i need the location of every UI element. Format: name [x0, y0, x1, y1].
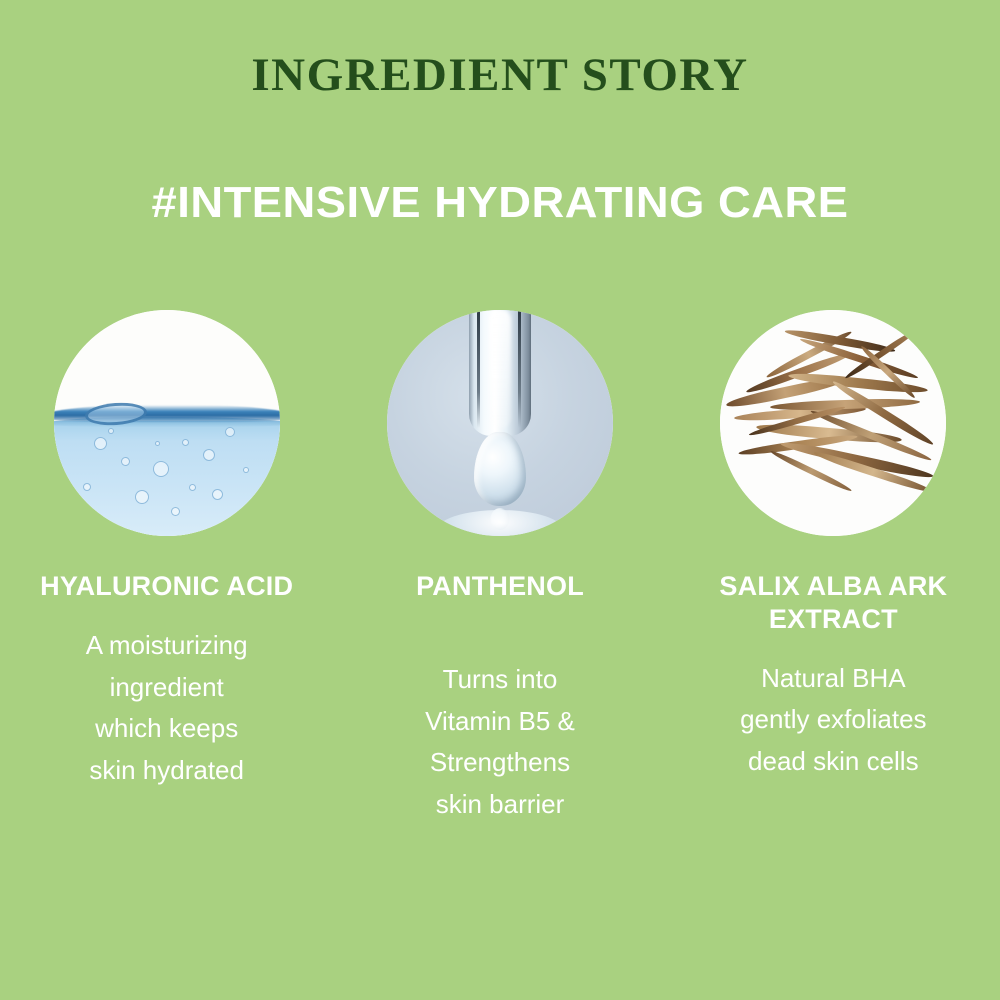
dropper-tube — [469, 310, 531, 436]
ingredient-card-panthenol: PANTHENOL Turns into Vitamin B5 & Streng… — [333, 310, 666, 910]
ingredient-image-wrap — [720, 310, 946, 536]
bubble — [212, 489, 223, 500]
serum-dropper-photo — [387, 310, 613, 536]
page-subtitle: #INTENSIVE HYDRATING CARE — [0, 178, 1000, 229]
dropper-highlight — [489, 310, 511, 428]
bubble — [171, 507, 180, 516]
ingredient-name: SALIX ALBA ARK EXTRACT — [667, 570, 1000, 636]
ingredient-columns: HYALURONIC ACID A moisturizing ingredien… — [0, 310, 1000, 910]
page-title: INGREDIENT STORY — [0, 50, 1000, 102]
water-body — [54, 421, 280, 536]
pendant-drop — [474, 432, 526, 506]
dropper-edge-right — [518, 310, 521, 428]
willow-bark-twigs-photo — [720, 310, 946, 536]
water-with-bubbles-photo — [54, 310, 280, 536]
ingredient-description: A moisturizing ingredient which keeps sk… — [0, 625, 333, 791]
bubble — [83, 483, 91, 491]
dropper-edge-left — [477, 310, 480, 428]
ingredient-card-salix-alba: SALIX ALBA ARK EXTRACT Natural BHA gentl… — [667, 310, 1000, 910]
bubble — [155, 441, 160, 446]
bubble — [225, 427, 235, 437]
ingredient-card-hyaluronic-acid: HYALURONIC ACID A moisturizing ingredien… — [0, 310, 333, 910]
ingredient-image-wrap — [387, 310, 613, 536]
ingredient-image-wrap — [54, 310, 280, 536]
ingredient-name: PANTHENOL — [333, 570, 666, 603]
ingredient-name: HYALURONIC ACID — [0, 570, 333, 603]
ingredient-description: Turns into Vitamin B5 & Strengthens skin… — [333, 659, 666, 825]
ingredient-description: Natural BHA gently exfoliates dead skin … — [667, 658, 1000, 783]
